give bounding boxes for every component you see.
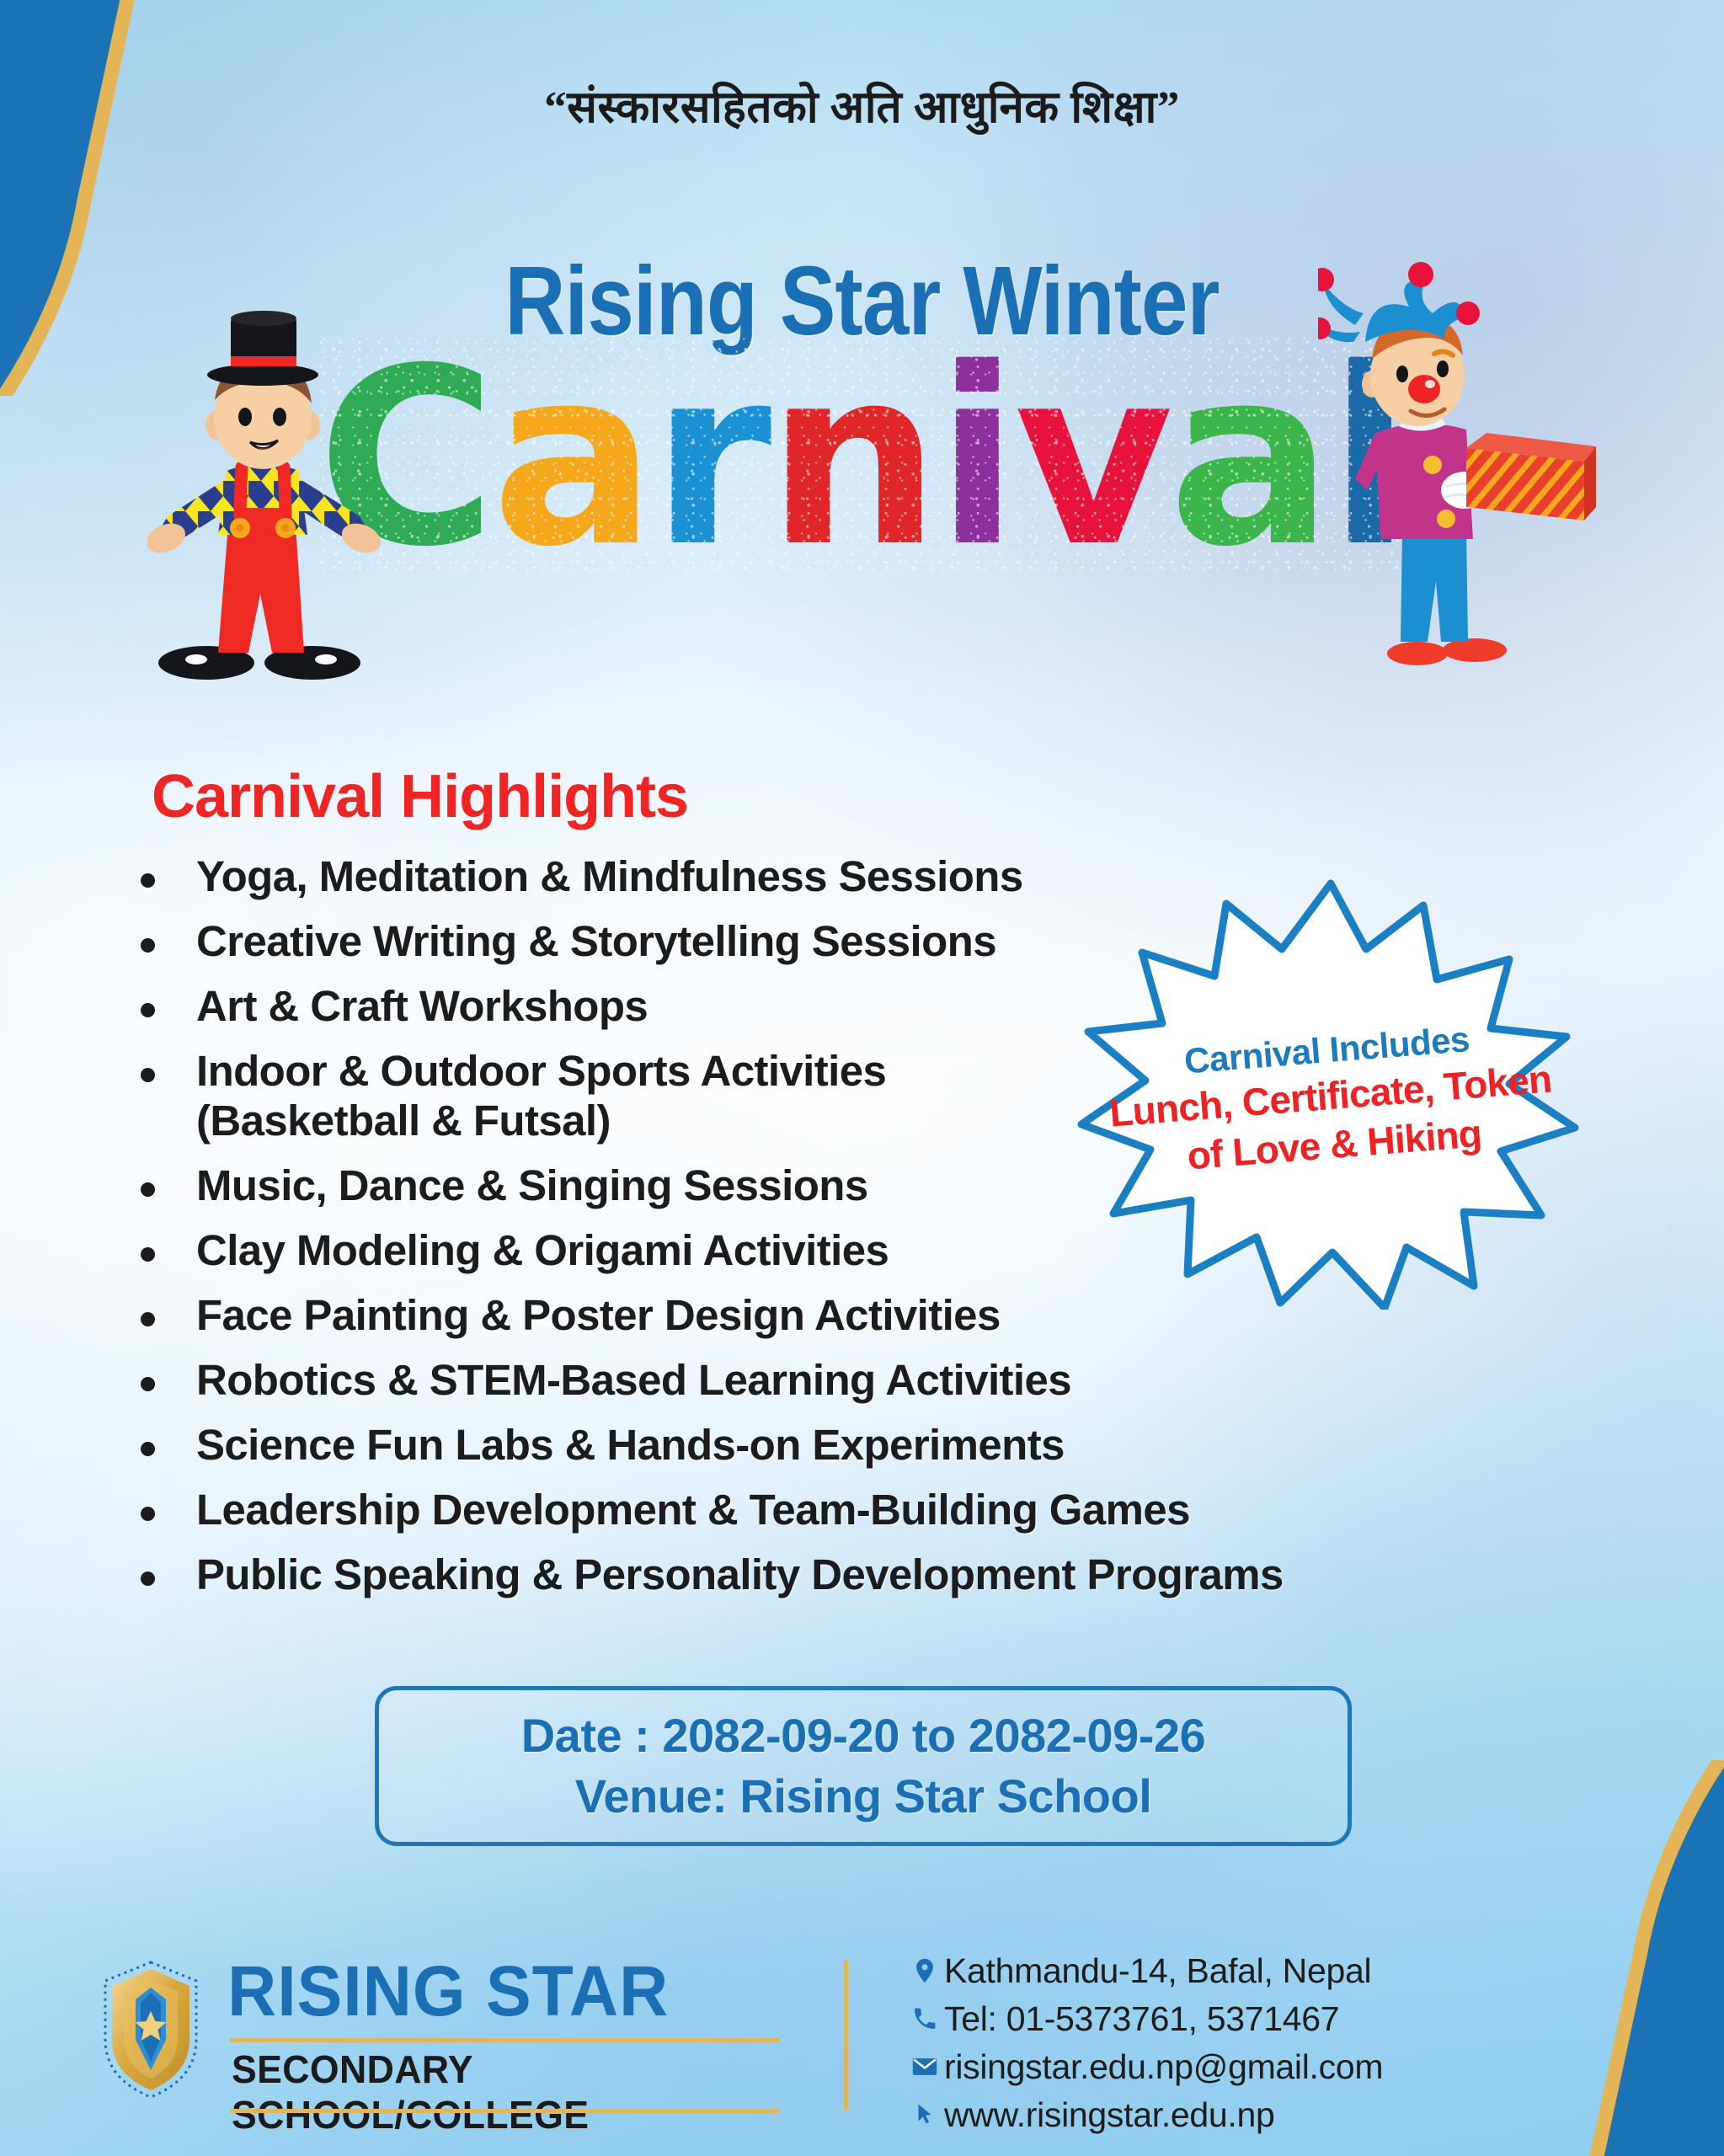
carnival-letter-4: i bbox=[936, 337, 1014, 581]
highlight-item-label: Yoga, Meditation & Mindfulness Sessions bbox=[196, 852, 1023, 900]
carnival-letter-1: a bbox=[492, 337, 652, 581]
cursor-arrow-icon bbox=[905, 2102, 944, 2127]
school-logo: RISING STAR SECONDARY SCHOOL/COLLEGE bbox=[97, 1954, 796, 2114]
tagline: “संस्कारसहितको अति आधुनिक शिक्षा” bbox=[0, 74, 1724, 136]
carnival-letter-2: r bbox=[651, 337, 766, 581]
contact-row[interactable]: risingstar.edu.np@gmail.com bbox=[905, 2048, 1383, 2085]
location-pin-icon bbox=[905, 1956, 944, 1985]
contact-text: Kathmandu-14, Bafal, Nepal bbox=[944, 1951, 1371, 1991]
footer-divider bbox=[844, 1961, 848, 2111]
contact-row[interactable]: Kathmandu-14, Bafal, Nepal bbox=[905, 1952, 1383, 1989]
contact-text: Tel: 01-5373761, 5371467 bbox=[944, 1999, 1339, 2039]
highlight-item-label: Music, Dance & Singing Sessions bbox=[196, 1161, 868, 1209]
carnival-letter-5: v bbox=[1014, 337, 1168, 581]
logo-name: RISING STAR bbox=[227, 1951, 669, 2032]
carnival-wordmark: Carnival bbox=[318, 337, 1407, 581]
highlight-item: Leadership Development & Team-Building G… bbox=[131, 1488, 1444, 1531]
logo-rule-bottom bbox=[230, 2109, 779, 2113]
highlight-item-label: Science Fun Labs & Hands-on Experiments bbox=[196, 1421, 1065, 1469]
highlight-item: Public Speaking & Personality Developmen… bbox=[131, 1553, 1444, 1596]
highlight-item-label: Art & Craft Workshops bbox=[196, 982, 648, 1030]
highlight-item-label: Leadership Development & Team-Building G… bbox=[196, 1486, 1190, 1534]
jester-boy-character bbox=[1318, 261, 1604, 674]
contact-text: risingstar.edu.np@gmail.com bbox=[944, 2047, 1383, 2087]
contact-row[interactable]: www.risingstar.edu.np bbox=[905, 2096, 1383, 2133]
highlight-item-label: Indoor & Outdoor Sports Activities bbox=[196, 1047, 886, 1095]
highlights-heading: Carnival Highlights bbox=[152, 762, 688, 831]
logo-rule-top bbox=[230, 2038, 779, 2042]
highlight-item: Science Fun Labs & Hands-on Experiments bbox=[131, 1423, 1444, 1466]
highlight-item-label: Robotics & STEM-Based Learning Activitie… bbox=[196, 1356, 1071, 1404]
carnival-letter-6: a bbox=[1168, 337, 1328, 581]
date-venue-box: Date : 2082-09-20 to 2082-09-26 Venue: R… bbox=[375, 1686, 1352, 1846]
corner-ornament-bottom-right bbox=[1471, 1760, 1724, 2156]
event-venue: Venue: Rising Star School bbox=[575, 1766, 1152, 1827]
highlight-item-label: Creative Writing & Storytelling Sessions bbox=[196, 917, 996, 965]
highlight-item-label: Clay Modeling & Origami Activities bbox=[196, 1226, 889, 1274]
phone-icon bbox=[905, 2005, 944, 2032]
contact-row[interactable]: Tel: 01-5373761, 5371467 bbox=[905, 2000, 1383, 2037]
clown-boy-character bbox=[147, 299, 425, 686]
contact-text: www.risingstar.edu.np bbox=[944, 2095, 1275, 2135]
highlight-item-label: Face Painting & Poster Design Activities bbox=[196, 1291, 1001, 1339]
carnival-includes-badge: Carnival Includes Lunch, Certificate, To… bbox=[1070, 872, 1592, 1310]
shield-crest-icon bbox=[97, 1959, 205, 2100]
carnival-letter-3: n bbox=[766, 337, 935, 581]
logo-subtitle: SECONDARY SCHOOL/COLLEGE bbox=[232, 2047, 779, 2137]
carnival-poster: “संस्कारसहितको अति आधुनिक शिक्षा” Rising… bbox=[0, 0, 1724, 2156]
highlight-item: Robotics & STEM-Based Learning Activitie… bbox=[131, 1358, 1444, 1401]
highlight-item-label: Public Speaking & Personality Developmen… bbox=[196, 1550, 1284, 1598]
envelope-icon bbox=[905, 2052, 944, 2081]
event-date: Date : 2082-09-20 to 2082-09-26 bbox=[521, 1705, 1206, 1766]
contact-info: Kathmandu-14, Bafal, NepalTel: 01-537376… bbox=[905, 1952, 1383, 2144]
